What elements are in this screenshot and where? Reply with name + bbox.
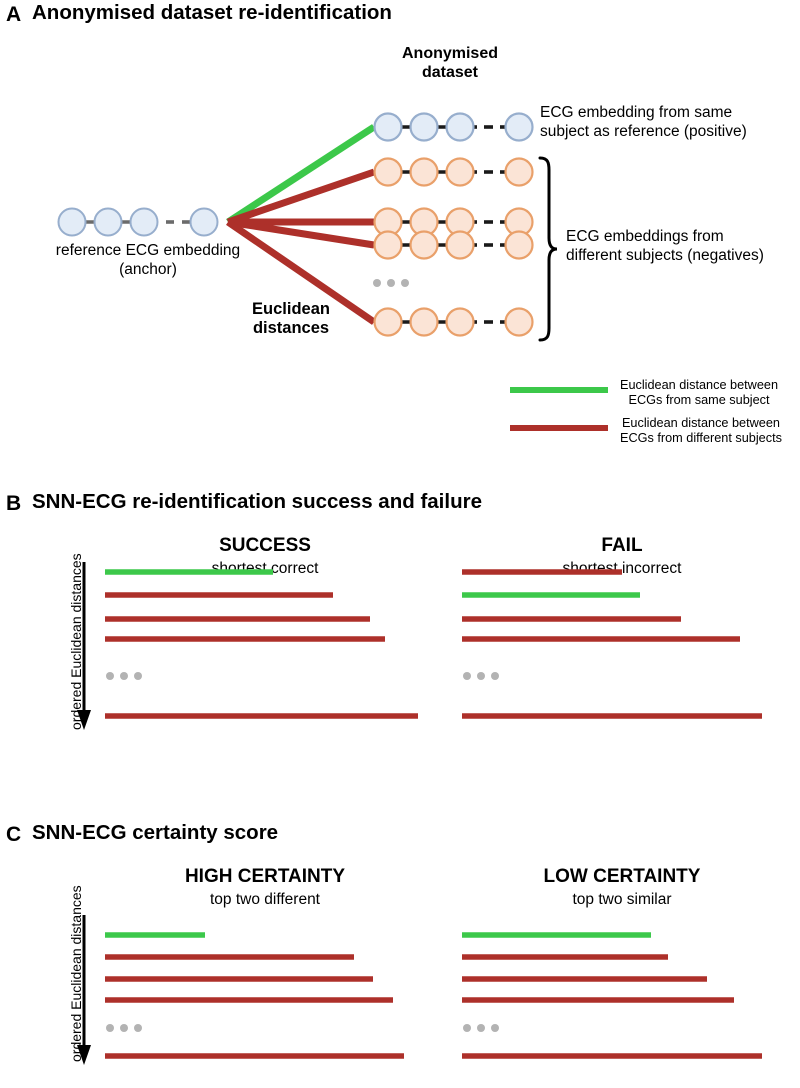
reference-embedding-chain bbox=[59, 209, 218, 236]
euclidean-distances-label: Euclidean distances bbox=[236, 300, 346, 339]
reference-embedding-label: reference ECG embedding (anchor) bbox=[38, 242, 258, 279]
negatives-curly-brace bbox=[540, 158, 557, 340]
panel-c-axis-arrow bbox=[77, 915, 91, 1065]
panel-c-ellipsis-high bbox=[106, 1024, 142, 1032]
negative-embedding-chain-1 bbox=[375, 159, 533, 186]
negatives-annotation: ECG embeddings from different subjects (… bbox=[566, 228, 764, 265]
euclidean-distances-label-line2: distances bbox=[236, 319, 346, 338]
panel-a-legend-swatches bbox=[510, 390, 608, 428]
distance-line-negative-1 bbox=[228, 172, 374, 222]
panel-b-bars-success bbox=[105, 572, 418, 716]
negatives-annotation-line1: ECG embeddings from bbox=[566, 228, 764, 247]
panel-c-plot bbox=[0, 810, 800, 1088]
panel-a-row-ellipsis bbox=[373, 279, 409, 287]
panel-c-bars-high-certainty bbox=[105, 935, 404, 1056]
distance-line-positive bbox=[228, 127, 374, 222]
panel-b-bars-fail bbox=[462, 572, 762, 716]
positive-annotation-line1: ECG embedding from same bbox=[540, 104, 747, 123]
reference-node-3 bbox=[131, 209, 158, 236]
legend-entry-different-subjects: Euclidean distance between ECGs from dif… bbox=[620, 416, 782, 446]
panel-b-axis-arrow bbox=[77, 562, 91, 730]
reference-embedding-label-line1: reference ECG embedding bbox=[38, 242, 258, 261]
panel-b-plot bbox=[0, 480, 800, 740]
legend-entry-same-subject: Euclidean distance between ECGs from sam… bbox=[620, 378, 778, 408]
panel-b-ellipsis-fail bbox=[463, 672, 499, 680]
reference-node-1 bbox=[59, 209, 86, 236]
positive-annotation-line2: subject as reference (positive) bbox=[540, 123, 747, 142]
legend-entry-different-subjects-line2: ECGs from different subjects bbox=[620, 431, 782, 446]
reference-node-2 bbox=[95, 209, 122, 236]
panel-c-ellipsis-low bbox=[463, 1024, 499, 1032]
positive-embedding-chain bbox=[375, 114, 533, 141]
euclidean-distances-label-line1: Euclidean bbox=[236, 300, 346, 319]
euclidean-distance-lines bbox=[228, 127, 374, 322]
negative-embedding-chain-3 bbox=[375, 232, 533, 259]
positive-annotation: ECG embedding from same subject as refer… bbox=[540, 104, 747, 141]
panel-b-ellipsis-success bbox=[106, 672, 142, 680]
legend-entry-same-subject-line1: Euclidean distance between bbox=[620, 378, 778, 393]
negative-embedding-chain-2 bbox=[375, 209, 533, 236]
reference-node-last bbox=[191, 209, 218, 236]
legend-entry-same-subject-line2: ECGs from same subject bbox=[620, 393, 778, 408]
legend-entry-different-subjects-line1: Euclidean distance between bbox=[620, 416, 782, 431]
reference-embedding-label-line2: (anchor) bbox=[38, 261, 258, 280]
panel-c-bars-low-certainty bbox=[462, 935, 762, 1056]
negatives-annotation-line2: different subjects (negatives) bbox=[566, 247, 764, 266]
negative-embedding-chain-last bbox=[375, 309, 533, 336]
